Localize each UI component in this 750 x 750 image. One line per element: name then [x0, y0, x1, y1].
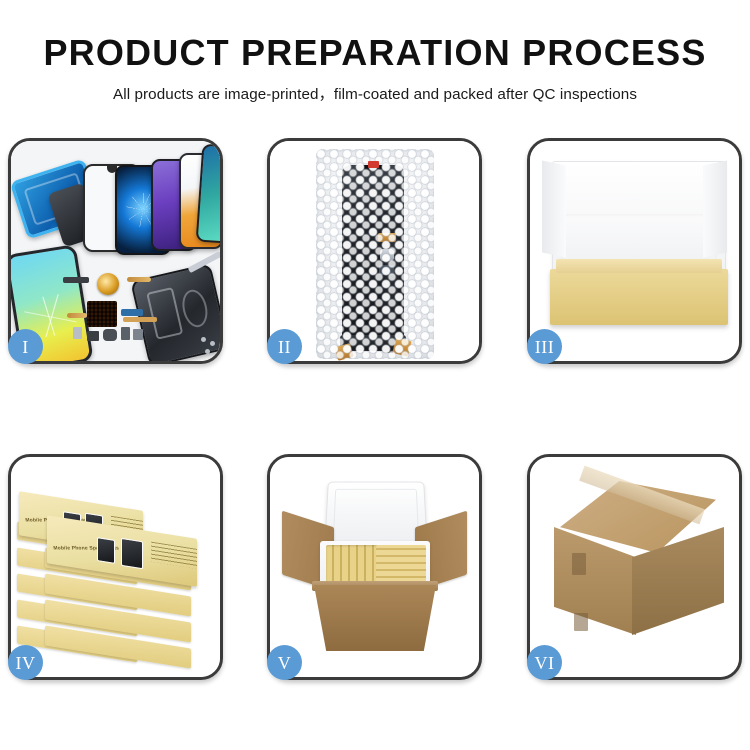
lid-flap-right-graphic — [703, 160, 727, 257]
step-3-image — [530, 141, 739, 361]
yellow-boxes-graphic — [376, 545, 426, 583]
carton-tab — [574, 613, 588, 631]
red-label-graphic — [368, 161, 379, 168]
step-badge: VI — [527, 645, 562, 680]
part-graphic — [73, 327, 82, 339]
part-graphic — [133, 329, 143, 340]
box-screen-print — [121, 538, 143, 569]
part-graphic — [121, 309, 143, 316]
step-badge: IV — [8, 645, 43, 680]
lid-flap-left-graphic — [542, 160, 566, 257]
copper-coil-graphic — [97, 273, 119, 295]
step-2-image — [270, 141, 479, 361]
page-subtitle: All products are image-printed，film-coat… — [0, 72, 750, 104]
step-panel-5: V — [267, 454, 482, 680]
bubble-texture — [316, 149, 434, 359]
sealed-carton-graphic — [544, 481, 730, 647]
step-badge: III — [527, 329, 562, 364]
part-graphic — [123, 317, 157, 322]
step-badge: I — [8, 329, 43, 364]
part-graphic — [121, 327, 130, 340]
step-badge: V — [267, 645, 302, 680]
kraft-box-base-graphic — [550, 269, 728, 325]
header: PRODUCT PREPARATION PROCESS All products… — [0, 0, 750, 104]
part-graphic — [67, 313, 87, 318]
box-stack-graphic: Mobile Phone Spare Parts Mobile Phone Sp… — [17, 475, 220, 671]
product-preparation-infographic: PRODUCT PREPARATION PROCESS All products… — [0, 0, 750, 750]
screw-graphic — [210, 341, 215, 346]
part-graphic — [127, 277, 151, 282]
screw-graphic — [205, 349, 210, 354]
page-title: PRODUCT PREPARATION PROCESS — [0, 0, 750, 72]
step-5-image — [270, 457, 479, 677]
box-screen-print — [97, 537, 115, 564]
white-foam-lid-graphic — [552, 161, 726, 275]
step-6-image — [530, 457, 739, 677]
part-graphic — [87, 331, 99, 341]
screw-graphic — [201, 337, 206, 342]
step-badge: II — [267, 329, 302, 364]
step-4-image: Mobile Phone Spare Parts Mobile Phone Sp… — [11, 457, 220, 677]
chip-grid-graphic — [87, 301, 117, 327]
step-panel-1: I — [8, 138, 223, 364]
step-1-image — [11, 141, 220, 361]
process-steps-grid: I II — [8, 138, 742, 680]
step-panel-6: VI — [527, 454, 742, 680]
step-panel-4: Mobile Phone Spare Parts Mobile Phone Sp… — [8, 454, 223, 680]
bubble-wrap-bag-graphic — [316, 149, 434, 359]
part-graphic — [103, 329, 117, 341]
carton-front-graphic — [314, 585, 436, 651]
carton-tab — [572, 553, 586, 575]
box-spec-lines — [151, 542, 197, 569]
step-panel-3: III — [527, 138, 742, 364]
step-panel-2: II — [267, 138, 482, 364]
part-graphic — [63, 277, 89, 283]
